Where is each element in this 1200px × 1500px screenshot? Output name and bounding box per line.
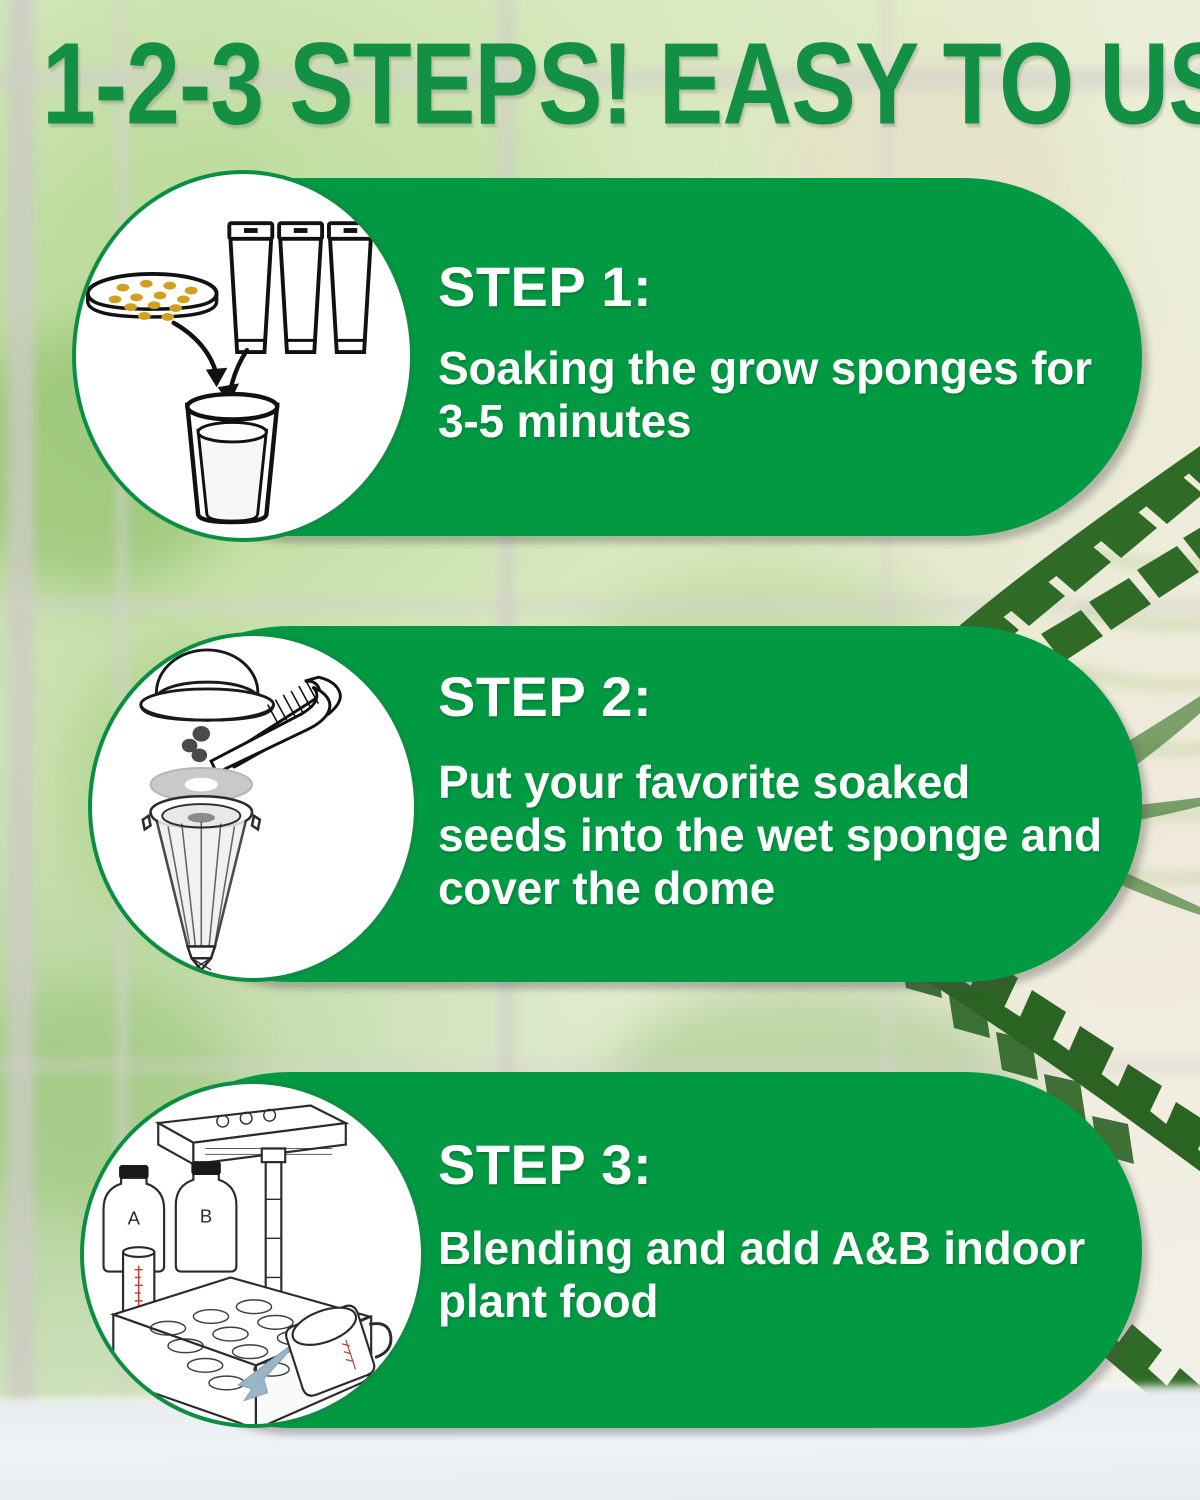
nutrient-blending-illustration-art: A B (84, 1084, 421, 1424)
step-2-body: Put your favorite soaked seeds into the … (438, 756, 1108, 915)
led-grow-light-icon (158, 1106, 346, 1165)
net-pot-basket-icon (143, 796, 260, 970)
seeds-icon (182, 726, 210, 762)
seed-plate-icon (88, 274, 217, 321)
step-1-heading: STEP 1: (438, 258, 1098, 316)
step-1-illustration (72, 170, 414, 542)
step-1-text: STEP 1: Soaking the grow sponges for 3-5… (438, 258, 1098, 448)
seeding-sponge-illustration-art (92, 636, 414, 978)
step-2-text: STEP 2: Put your favorite soaked seeds i… (438, 668, 1108, 915)
soaking-sponges-illustration-art (76, 174, 410, 538)
step-2-heading: STEP 2: (438, 668, 1108, 726)
step-3-text: STEP 3: Blending and add A&B indoor plan… (438, 1136, 1108, 1328)
window-frame-bar (8, 0, 34, 1440)
step-3-illustration: A B (80, 1080, 425, 1428)
step-2-illustration (88, 632, 418, 982)
water-glass-icon (187, 394, 277, 522)
step-1-body: Soaking the grow sponges for 3-5 minutes (438, 342, 1098, 448)
bottle-b-label: B (200, 1206, 212, 1227)
dome-lid-icon (141, 650, 274, 720)
page-title: 1-2-3 STEPS! EASY TO USE (42, 26, 1158, 142)
grow-sponge-tubes-icon (229, 223, 372, 352)
step-3-body: Blending and add A&B indoor plant food (438, 1222, 1108, 1328)
bottle-b-icon: B (176, 1162, 237, 1271)
bottle-a-label: A (128, 1208, 141, 1229)
step-3-heading: STEP 3: (438, 1136, 1108, 1194)
